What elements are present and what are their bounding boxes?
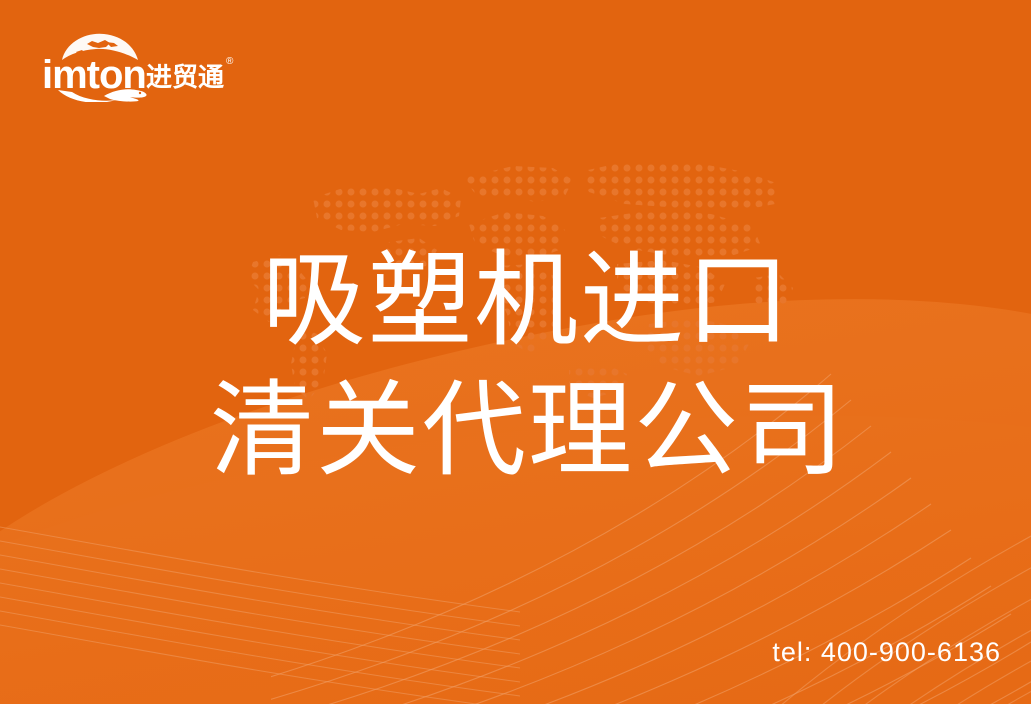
svg-text:进贸通: 进贸通 [146, 62, 224, 92]
company-logo[interactable]: imton 进贸通 ® [40, 30, 240, 102]
fan-stripes-left [0, 484, 520, 704]
promo-banner: imton 进贸通 ® imton 进贸通 ® 吸塑机进口 清关代理公司 tel… [0, 0, 1031, 704]
page-title: 吸塑机进口 清关代理公司 [206, 236, 906, 496]
svg-text:®: ® [226, 56, 234, 67]
title-line-2: 清关代理公司 [210, 366, 906, 496]
title-line-1: 吸塑机进口 [262, 236, 906, 366]
contact-phone[interactable]: tel: 400-900-6136 [772, 637, 1001, 668]
